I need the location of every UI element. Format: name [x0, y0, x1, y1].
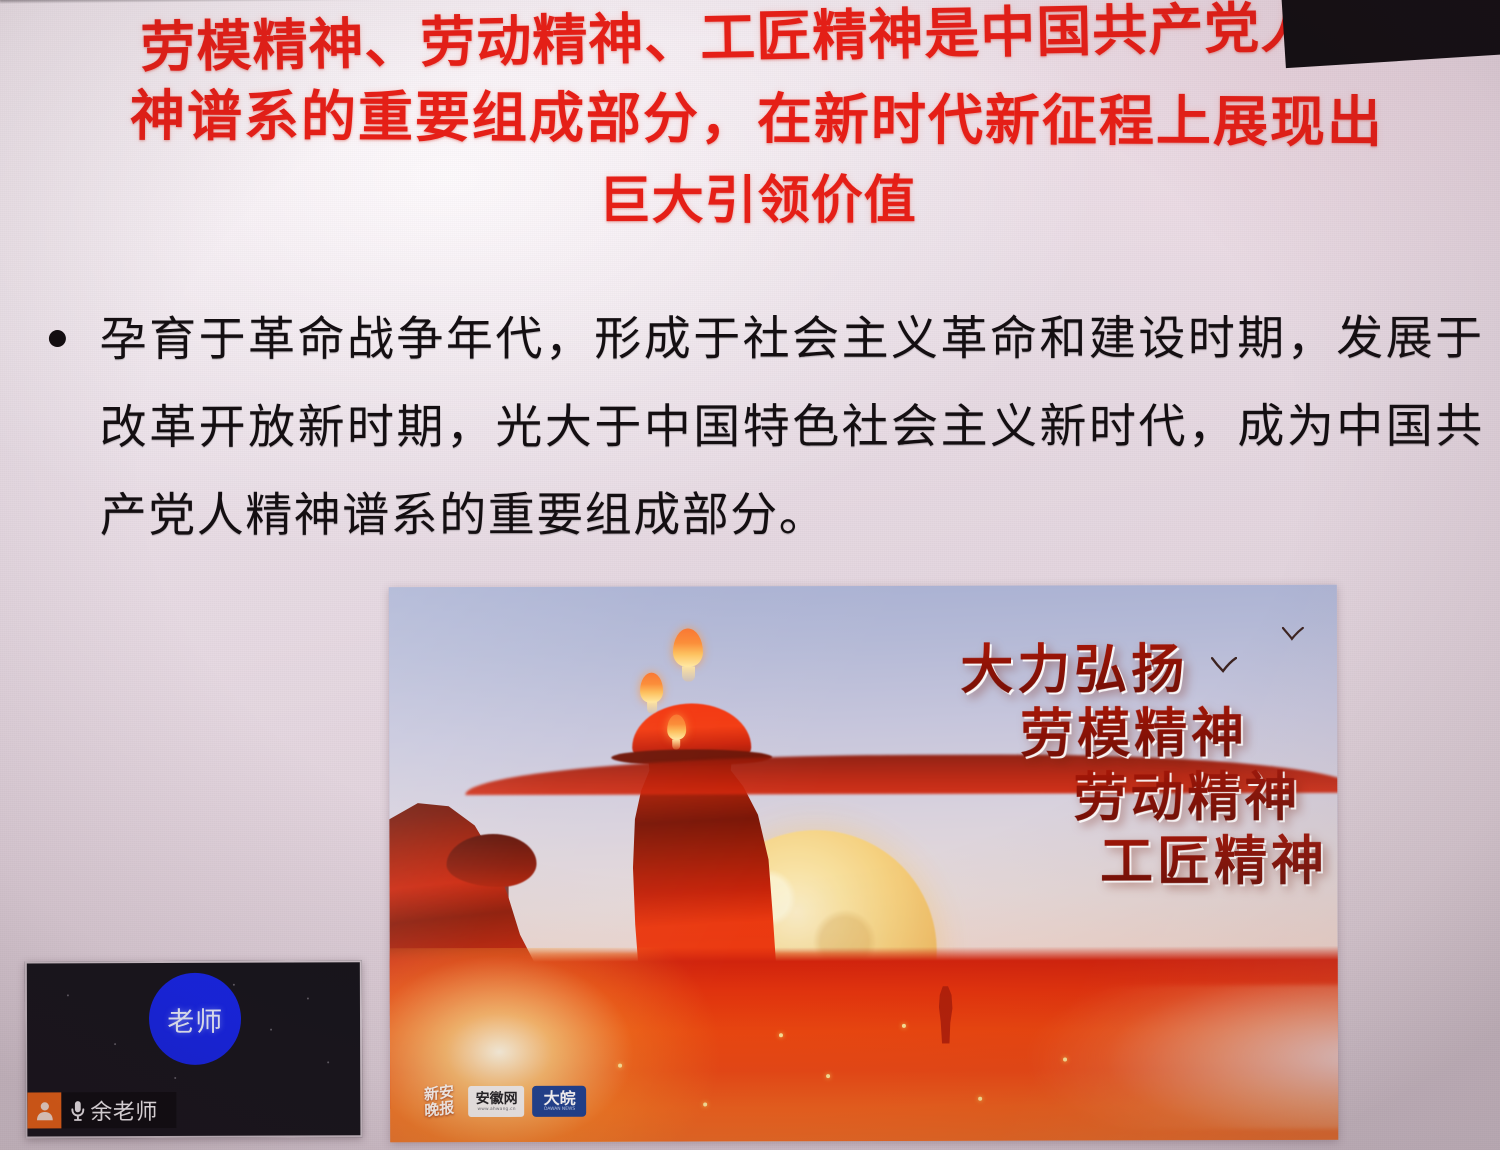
xinan-evening-news-logo: 新安晚报 [418, 1082, 460, 1119]
worker-head-bending [446, 834, 536, 887]
anhui-net-logo: 安徽网 www.ahwang.cn [469, 1085, 525, 1116]
dawan-logo: 大皖 DAWAN NEWS [533, 1085, 587, 1116]
poster-headline-line-4: 工匠精神 [664, 833, 1328, 891]
heading-line-2: 神谱系的重要组成部分，在新时代新征程上展现出 [57, 74, 1457, 163]
anhui-net-logo-url: www.ahwang.cn [475, 1106, 519, 1112]
video-participant-tile[interactable]: 老师 余老师 [25, 960, 363, 1138]
poster-headline-line-3: 劳动精神 [664, 769, 1328, 827]
poster-headline-line-2: 劳模精神 [664, 704, 1328, 762]
slide-body-block: 孕育于革命战争年代，形成于社会主义革命和建设时期，发展于改革开放新时期，光大于中… [37, 290, 1485, 567]
person-icon [27, 1092, 61, 1128]
microphone-icon [66, 1092, 88, 1128]
participant-name-bar: 余老师 [27, 1092, 176, 1129]
poster-headline: 大力弘扬 劳模精神 劳动精神 工匠精神 [664, 640, 1328, 898]
poster-image: 大力弘扬 劳模精神 劳动精神 工匠精神 新安晚报 安徽网 www.ahwang.… [389, 585, 1338, 1142]
dawan-logo-text: 大皖 [539, 1090, 581, 1106]
sky-lantern-2 [640, 673, 663, 703]
anhui-net-logo-text: 安徽网 [475, 1091, 519, 1106]
participant-name: 余老师 [90, 1094, 158, 1126]
bird-icon-2 [1282, 626, 1304, 640]
slide-content: 劳模精神、劳动精神、工匠精神是中国共产党人精 神谱系的重要组成部分，在新时代新征… [0, 0, 1500, 1150]
poster-logo-row: 新安晚报 安徽网 www.ahwang.cn 大皖 DAWAN NEWS [419, 1085, 587, 1117]
slide-heading: 劳模精神、劳动精神、工匠精神是中国共产党人精 神谱系的重要组成部分，在新时代新征… [56, 0, 1458, 248]
dawan-logo-sub: DAWAN NEWS [539, 1106, 581, 1112]
slide-body-text: 孕育于革命战争年代，形成于社会主义革命和建设时期，发展于改革开放新时期，光大于中… [100, 295, 1484, 560]
bullet-marker-icon [49, 330, 66, 347]
avatar-initials: 老师 [167, 999, 223, 1038]
photographed-slide-screenshot: 劳模精神、劳动精神、工匠精神是中国共产党人精 神谱系的重要组成部分，在新时代新征… [0, 0, 1500, 1150]
poster-headline-line-1: 大力弘扬 [664, 640, 1328, 698]
avatar: 老师 [149, 973, 241, 1065]
heading-line-3: 巨大引领价值 [58, 159, 1458, 243]
